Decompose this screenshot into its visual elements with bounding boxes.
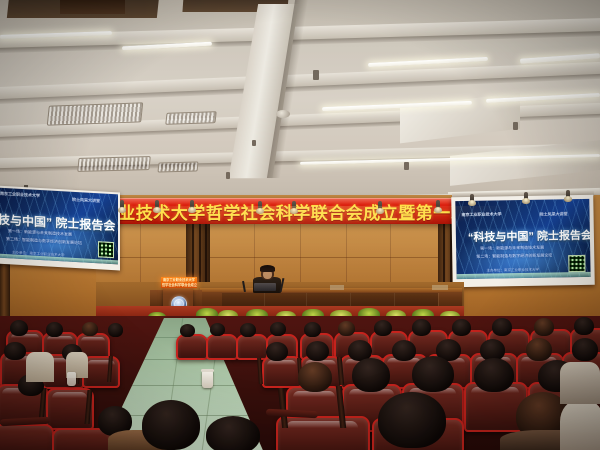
smoke-detector bbox=[276, 110, 290, 118]
seat-highlight bbox=[52, 392, 87, 398]
audience-head-foreground bbox=[142, 400, 200, 450]
audience-head bbox=[338, 321, 355, 336]
audience-head bbox=[374, 320, 392, 336]
hvac-vent bbox=[47, 102, 144, 125]
seat-highlight bbox=[81, 337, 105, 341]
audience-head bbox=[180, 324, 195, 337]
audience-head bbox=[352, 358, 390, 392]
slide-logo-right: 院士风采大讲堂 bbox=[539, 211, 567, 217]
audience-head bbox=[534, 318, 554, 336]
hvac-vent bbox=[165, 111, 216, 125]
audience-head-foreground bbox=[206, 416, 260, 450]
podium-led-line-2: 哲学社会科学联合会成立大会 bbox=[162, 282, 197, 287]
slide-line-1: 第一场：新能源与未来制造技术发展 bbox=[480, 245, 544, 252]
audience-head bbox=[108, 323, 123, 337]
ceiling-recess bbox=[60, 0, 125, 14]
paper-cup-on-armrest bbox=[202, 371, 213, 388]
ceiling-nub bbox=[404, 162, 409, 170]
audience-head bbox=[474, 358, 514, 392]
seat[interactable] bbox=[262, 356, 302, 388]
seat[interactable] bbox=[276, 416, 370, 450]
ceiling-speaker bbox=[313, 70, 319, 80]
audience-head bbox=[306, 341, 329, 361]
audience-head bbox=[392, 340, 416, 361]
slide-band bbox=[457, 272, 591, 279]
speaker-hair bbox=[260, 265, 275, 272]
table-document bbox=[432, 285, 448, 290]
audience-head bbox=[240, 323, 256, 337]
audience-head bbox=[82, 322, 98, 336]
audience-head bbox=[270, 322, 286, 336]
audience-head bbox=[572, 338, 598, 361]
seat[interactable] bbox=[0, 424, 54, 450]
audience-head-foreground bbox=[378, 392, 446, 448]
seat[interactable] bbox=[236, 334, 268, 360]
audience-head bbox=[412, 319, 431, 336]
track-spotlight-head bbox=[522, 198, 530, 204]
spotlight-glow bbox=[100, 206, 510, 232]
audience-head bbox=[10, 320, 28, 336]
hvac-vent bbox=[157, 161, 198, 172]
audience-head bbox=[492, 318, 512, 336]
audience-head bbox=[4, 342, 26, 360]
auditorium-photo: 南京工业职业技术大学哲学社会科学联合会成立暨第一次会员代表大会 南京工业职业技术… bbox=[0, 0, 600, 450]
ceiling bbox=[0, 0, 600, 205]
audience-head bbox=[266, 342, 288, 361]
seat[interactable] bbox=[206, 334, 238, 360]
ceiling-nub bbox=[513, 122, 518, 130]
audience-head bbox=[210, 323, 225, 336]
seat-highlight bbox=[267, 360, 296, 365]
hvac-vent bbox=[77, 156, 151, 172]
audience-head bbox=[46, 322, 63, 337]
ceiling-nub bbox=[226, 172, 230, 179]
seat-highlight bbox=[286, 421, 358, 428]
podium-led-display: 南京工业职业技术大学 哲学社会科学联合会成立大会 bbox=[161, 277, 197, 288]
table-document bbox=[330, 285, 344, 290]
audience-head bbox=[526, 338, 552, 361]
track-spotlight-head bbox=[564, 196, 572, 202]
audience-head bbox=[298, 362, 332, 392]
seat[interactable] bbox=[176, 334, 208, 360]
audience-head bbox=[452, 319, 471, 336]
laptop-on-table bbox=[254, 283, 276, 291]
slide-qr-code bbox=[568, 255, 585, 272]
wall-seam bbox=[96, 257, 438, 258]
slide-qr-code bbox=[98, 241, 114, 258]
audience-shoulder bbox=[560, 400, 600, 450]
audience-head bbox=[574, 317, 594, 335]
audience-person-white-coat bbox=[26, 352, 54, 382]
audience-head bbox=[412, 356, 454, 392]
ceiling-nub bbox=[252, 140, 256, 146]
audience-person-light-top bbox=[560, 362, 600, 404]
ceiling-light bbox=[368, 57, 488, 67]
cup-lid bbox=[201, 369, 214, 372]
audience-head bbox=[304, 322, 321, 337]
paper-cup-on-armrest bbox=[67, 372, 76, 386]
